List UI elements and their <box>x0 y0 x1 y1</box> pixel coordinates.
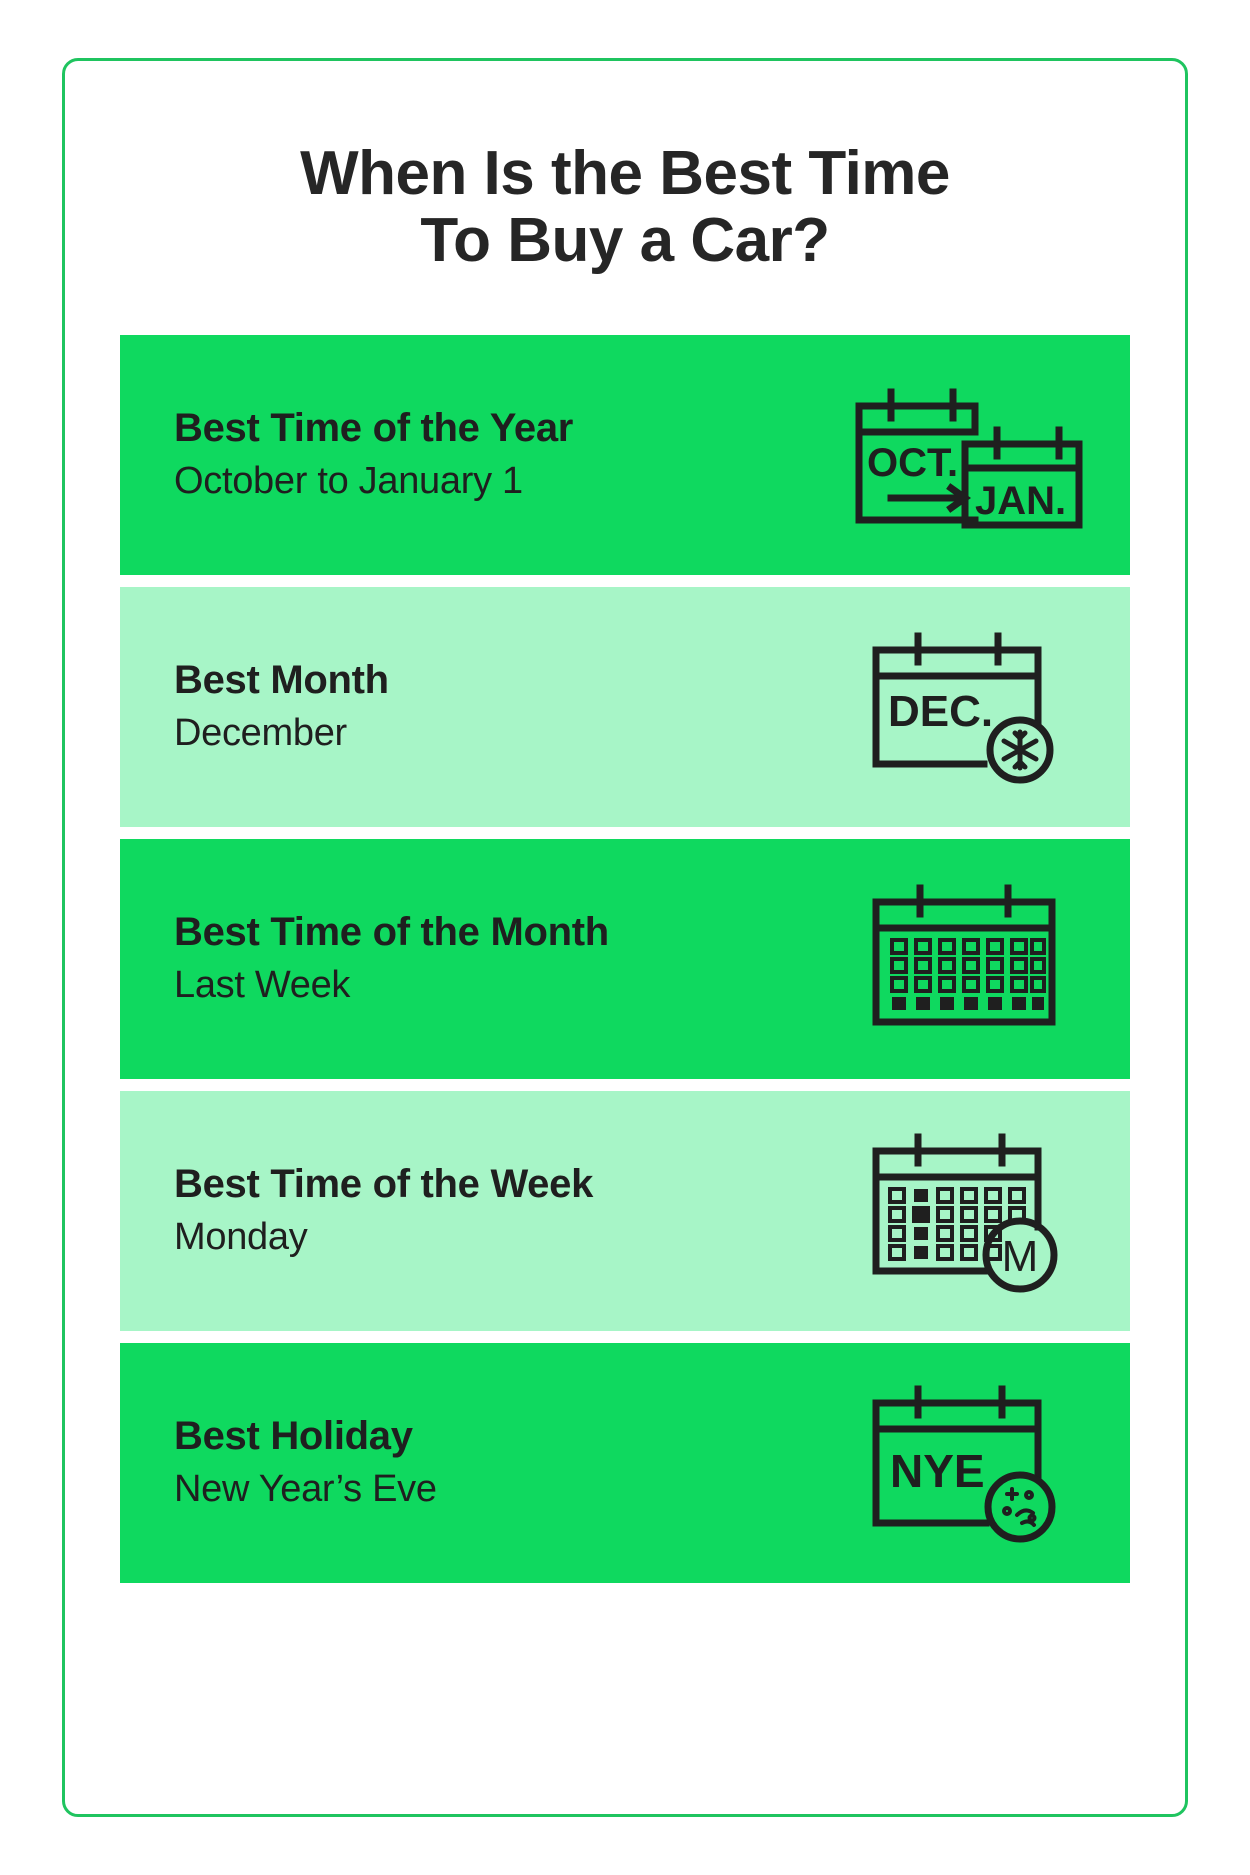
confetti-glyph <box>1004 1489 1035 1525</box>
highlight-monday-column <box>914 1189 928 1259</box>
monday-badge-letter: M <box>1002 1232 1039 1281</box>
fact-row-label: Best Time of the Week <box>174 1161 593 1207</box>
icon-label-oct: OCT. <box>867 441 958 485</box>
fact-row-label: Best Month <box>174 657 389 703</box>
infographic-page: When Is the Best Time To Buy a Car? Best… <box>0 0 1250 1875</box>
fact-row-value: December <box>174 711 389 757</box>
fact-row-label: Best Time of the Year <box>174 405 573 451</box>
fact-row-text: Best Time of the Week Monday <box>174 1161 593 1261</box>
icon-label-dec: DEC. <box>888 687 993 736</box>
fact-row-label: Best Holiday <box>174 1413 437 1459</box>
fact-row-best-holiday: Best Holiday New Year’s Eve NYE <box>120 1343 1130 1583</box>
fact-row-text: Best Time of the Month Last Week <box>174 909 609 1009</box>
fact-row-best-time-of-month: Best Time of the Month Last Week <box>120 839 1130 1079</box>
fact-row-best-month: Best Month December DEC. <box>120 587 1130 827</box>
icon-label-jan: JAN. <box>975 479 1066 523</box>
calendar-grid-last-week-icon <box>842 864 1092 1054</box>
fact-row-value: Monday <box>174 1215 593 1261</box>
fact-row-label: Best Time of the Month <box>174 909 609 955</box>
calendar-nye-confetti-icon: NYE <box>842 1368 1092 1558</box>
fact-row-text: Best Month December <box>174 657 389 757</box>
two-calendars-oct-jan-icon: OCT. JAN. <box>842 360 1092 550</box>
fact-row-value: New Year’s Eve <box>174 1467 437 1513</box>
page-title: When Is the Best Time To Buy a Car? <box>120 141 1130 275</box>
fact-row-value: Last Week <box>174 963 609 1009</box>
fact-row-text: Best Time of the Year October to January… <box>174 405 573 505</box>
highlight-last-week <box>892 997 1044 1010</box>
fact-row-text: Best Holiday New Year’s Eve <box>174 1413 437 1513</box>
calendar-december-snowflake-icon: DEC. <box>842 612 1092 802</box>
fact-row-best-time-of-year: Best Time of the Year October to January… <box>120 335 1130 575</box>
confetti-badge-circle <box>988 1475 1052 1539</box>
fact-row-list: Best Time of the Year October to January… <box>120 335 1130 1583</box>
icon-label-nye: NYE <box>890 1445 985 1497</box>
infographic-card: When Is the Best Time To Buy a Car? Best… <box>62 58 1188 1817</box>
fact-row-value: October to January 1 <box>174 459 573 505</box>
calendar-grid-monday-icon: M <box>842 1116 1092 1306</box>
fact-row-best-time-of-week: Best Time of the Week Monday <box>120 1091 1130 1331</box>
